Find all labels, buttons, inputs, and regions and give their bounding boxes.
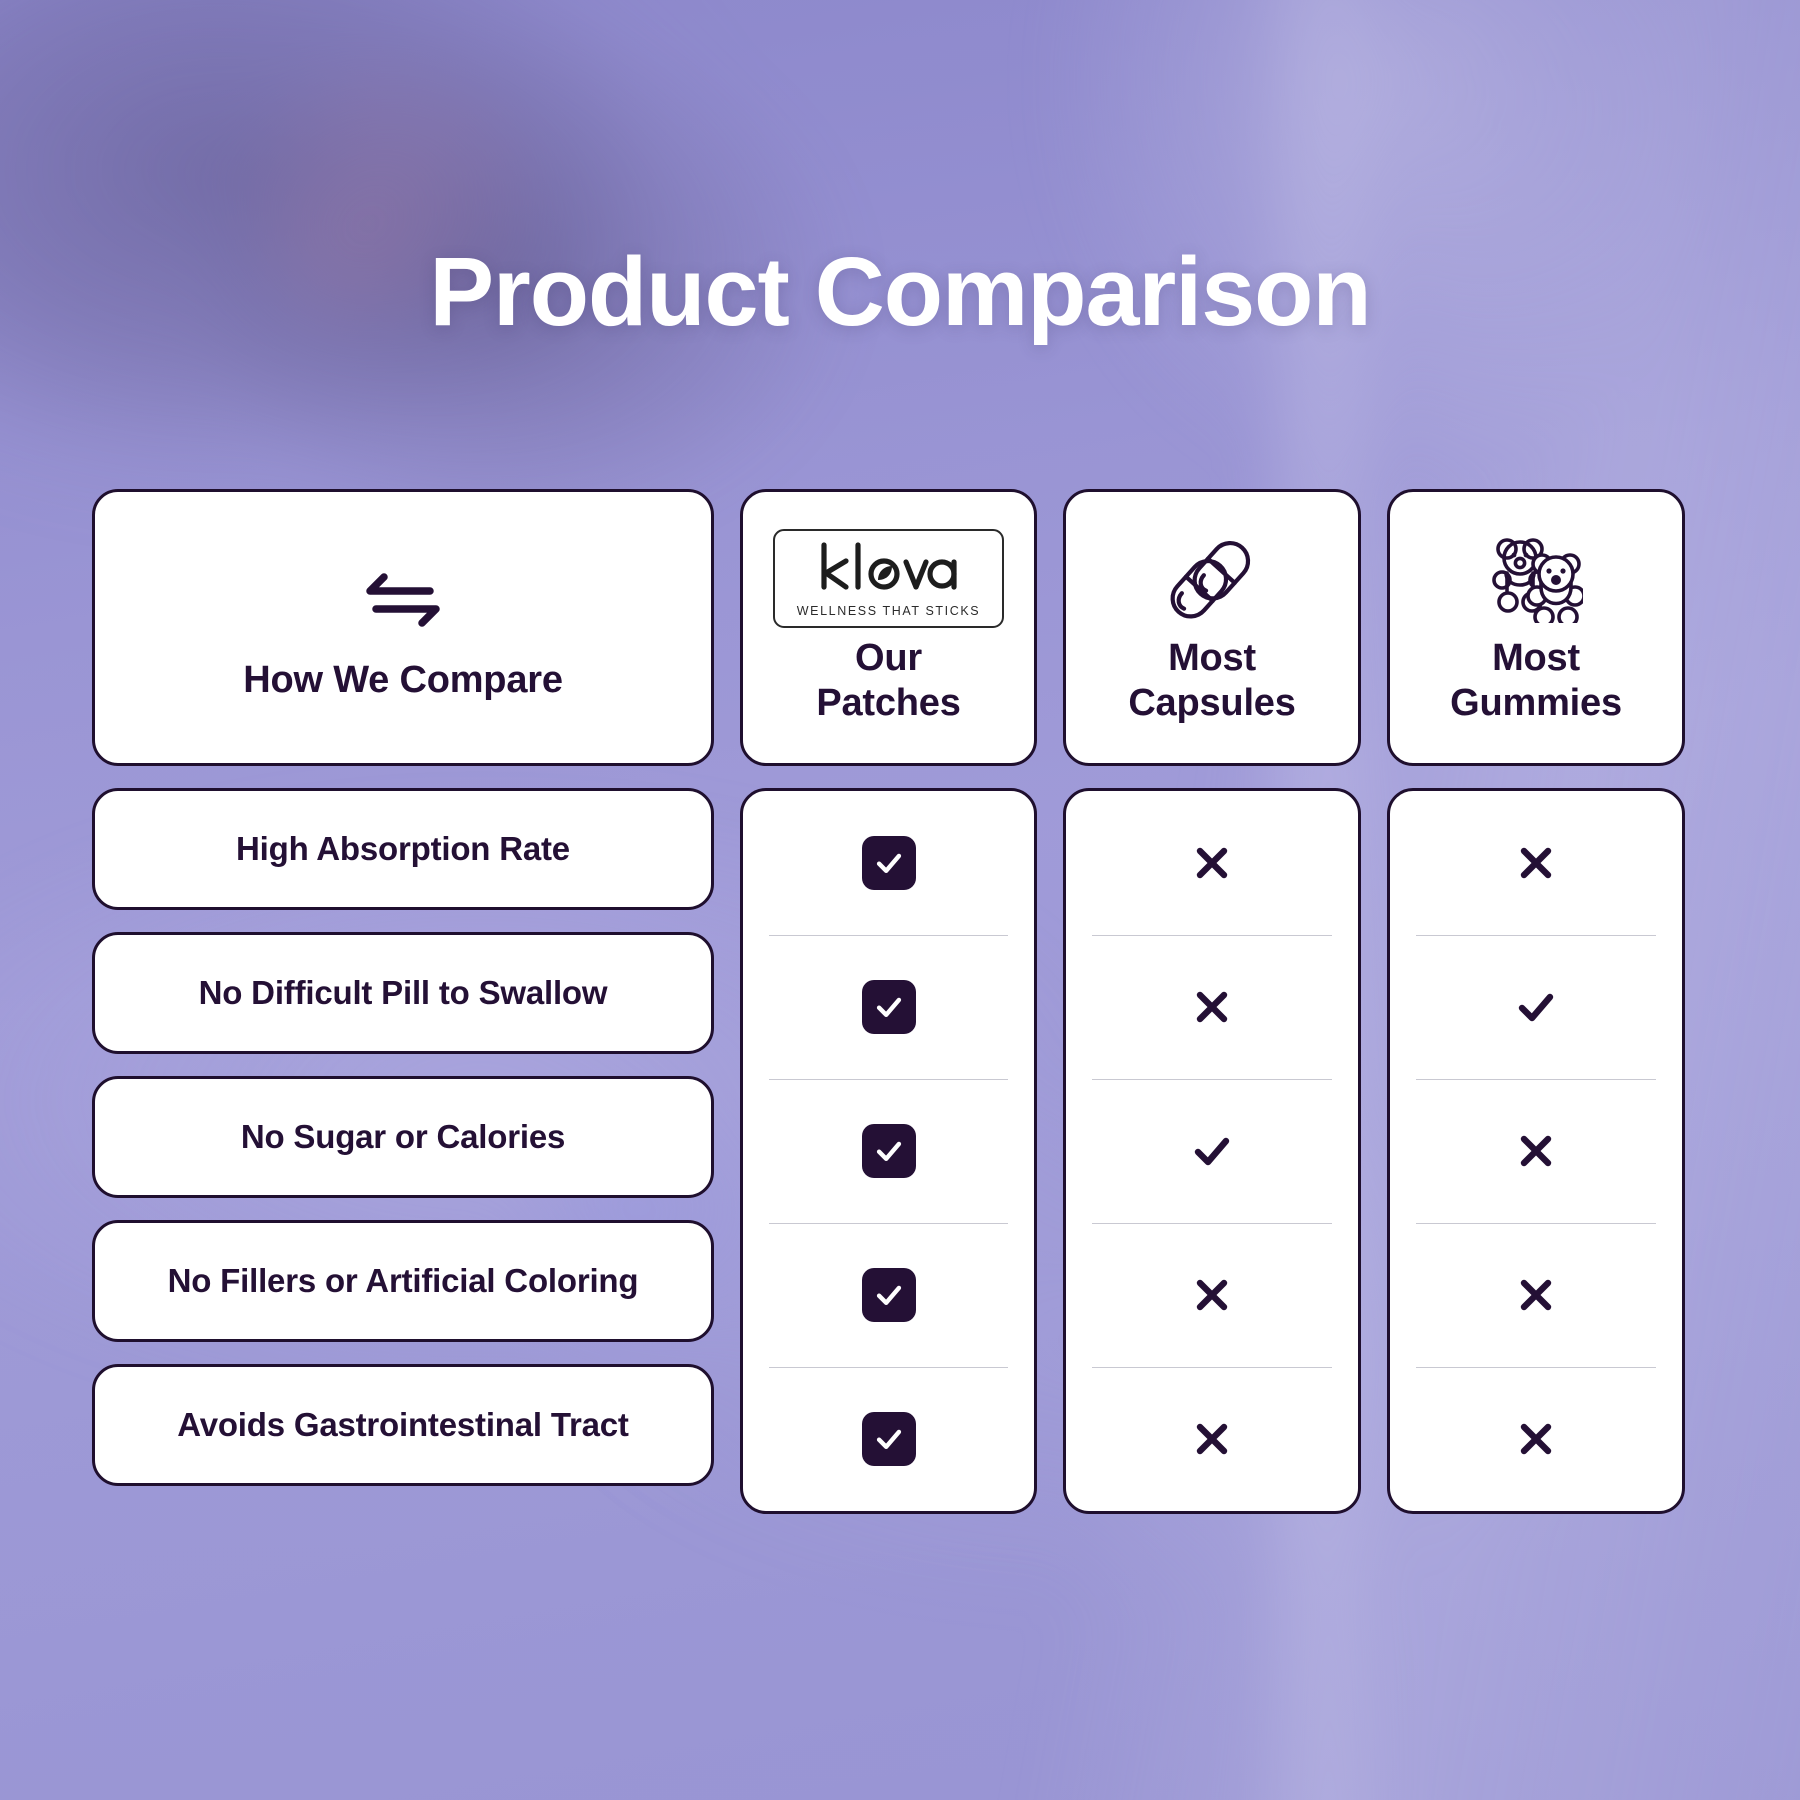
mark-cell-gummies-1 [1390,935,1682,1079]
feature-label: No Sugar or Calories [241,1118,565,1156]
feature-label: No Difficult Pill to Swallow [199,974,608,1012]
klova-wordmark [816,541,962,600]
header-cell-most-capsules: Most Capsules [1063,489,1361,766]
klova-tagline: WELLNESS THAT STICKS [797,604,980,618]
mark-cell-gummies-0 [1390,791,1682,935]
checkbox-checked-icon [862,836,916,890]
mark-cell-gummies-3 [1390,1223,1682,1367]
compare-arrows-icon [360,552,446,648]
mark-cell-gummies-2 [1390,1079,1682,1223]
page-title: Product Comparison [0,243,1800,340]
feature-row-3: No Fillers or Artificial Coloring [92,1220,714,1342]
checkbox-checked-icon [862,1412,916,1466]
header-label-our-patches-line1: Our [855,637,922,679]
header-label-most-gummies: Most Gummies [1450,636,1622,724]
gummy-bears-icon [1489,530,1583,626]
table-body: High Absorption Rate No Difficult Pill t… [92,788,1708,1514]
checkbox-checked-icon [862,1268,916,1322]
mark-cell-capsules-1 [1066,935,1358,1079]
mark-cell-capsules-2 [1066,1079,1358,1223]
feature-row-2: No Sugar or Calories [92,1076,714,1198]
mark-cell-capsules-0 [1066,791,1358,935]
header-label-most-capsules: Most Capsules [1128,636,1295,724]
header-label-our-patches: Our Patches [816,636,960,724]
header-cell-how-we-compare: How We Compare [92,489,714,766]
header-label-most-gummies-line1: Most [1492,637,1580,679]
header-label-most-capsules-line1: Most [1168,637,1256,679]
feature-label: No Fillers or Artificial Coloring [168,1262,639,1300]
marks-column-patches [740,788,1037,1514]
feature-label-column: High Absorption Rate No Difficult Pill t… [92,788,714,1486]
mark-cell-capsules-4 [1066,1367,1358,1511]
feature-label: High Absorption Rate [236,830,570,868]
marks-column-capsules [1063,788,1361,1514]
header-label-our-patches-line2: Patches [816,682,960,724]
mark-cell-patches-1 [743,935,1034,1079]
mark-cell-gummies-4 [1390,1367,1682,1511]
checkbox-checked-icon [862,1124,916,1178]
klova-logo-box: WELLNESS THAT STICKS [773,529,1004,628]
marks-column-gummies [1387,788,1685,1514]
checkbox-checked-icon [862,980,916,1034]
comparison-table: How We Compare [92,489,1708,1514]
klova-logo: WELLNESS THAT STICKS [773,530,1004,626]
header-label-how-we-compare: How We Compare [243,658,563,702]
feature-row-1: No Difficult Pill to Swallow [92,932,714,1054]
mark-cell-patches-2 [743,1079,1034,1223]
header-label-most-capsules-line2: Capsules [1128,682,1295,724]
mark-cell-patches-3 [743,1223,1034,1367]
header-cell-most-gummies: Most Gummies [1387,489,1685,766]
header-label-most-gummies-line2: Gummies [1450,682,1622,724]
header-cell-our-patches: WELLNESS THAT STICKS Our Patches [740,489,1037,766]
table-header-row: How We Compare [92,489,1708,766]
capsules-icon [1166,530,1258,626]
mark-cell-capsules-3 [1066,1223,1358,1367]
feature-label: Avoids Gastrointestinal Tract [177,1406,628,1444]
mark-cell-patches-4 [743,1367,1034,1511]
feature-row-4: Avoids Gastrointestinal Tract [92,1364,714,1486]
feature-row-0: High Absorption Rate [92,788,714,910]
mark-cell-patches-0 [743,791,1034,935]
infographic-root: Product Comparison How We Compare [0,0,1800,1800]
